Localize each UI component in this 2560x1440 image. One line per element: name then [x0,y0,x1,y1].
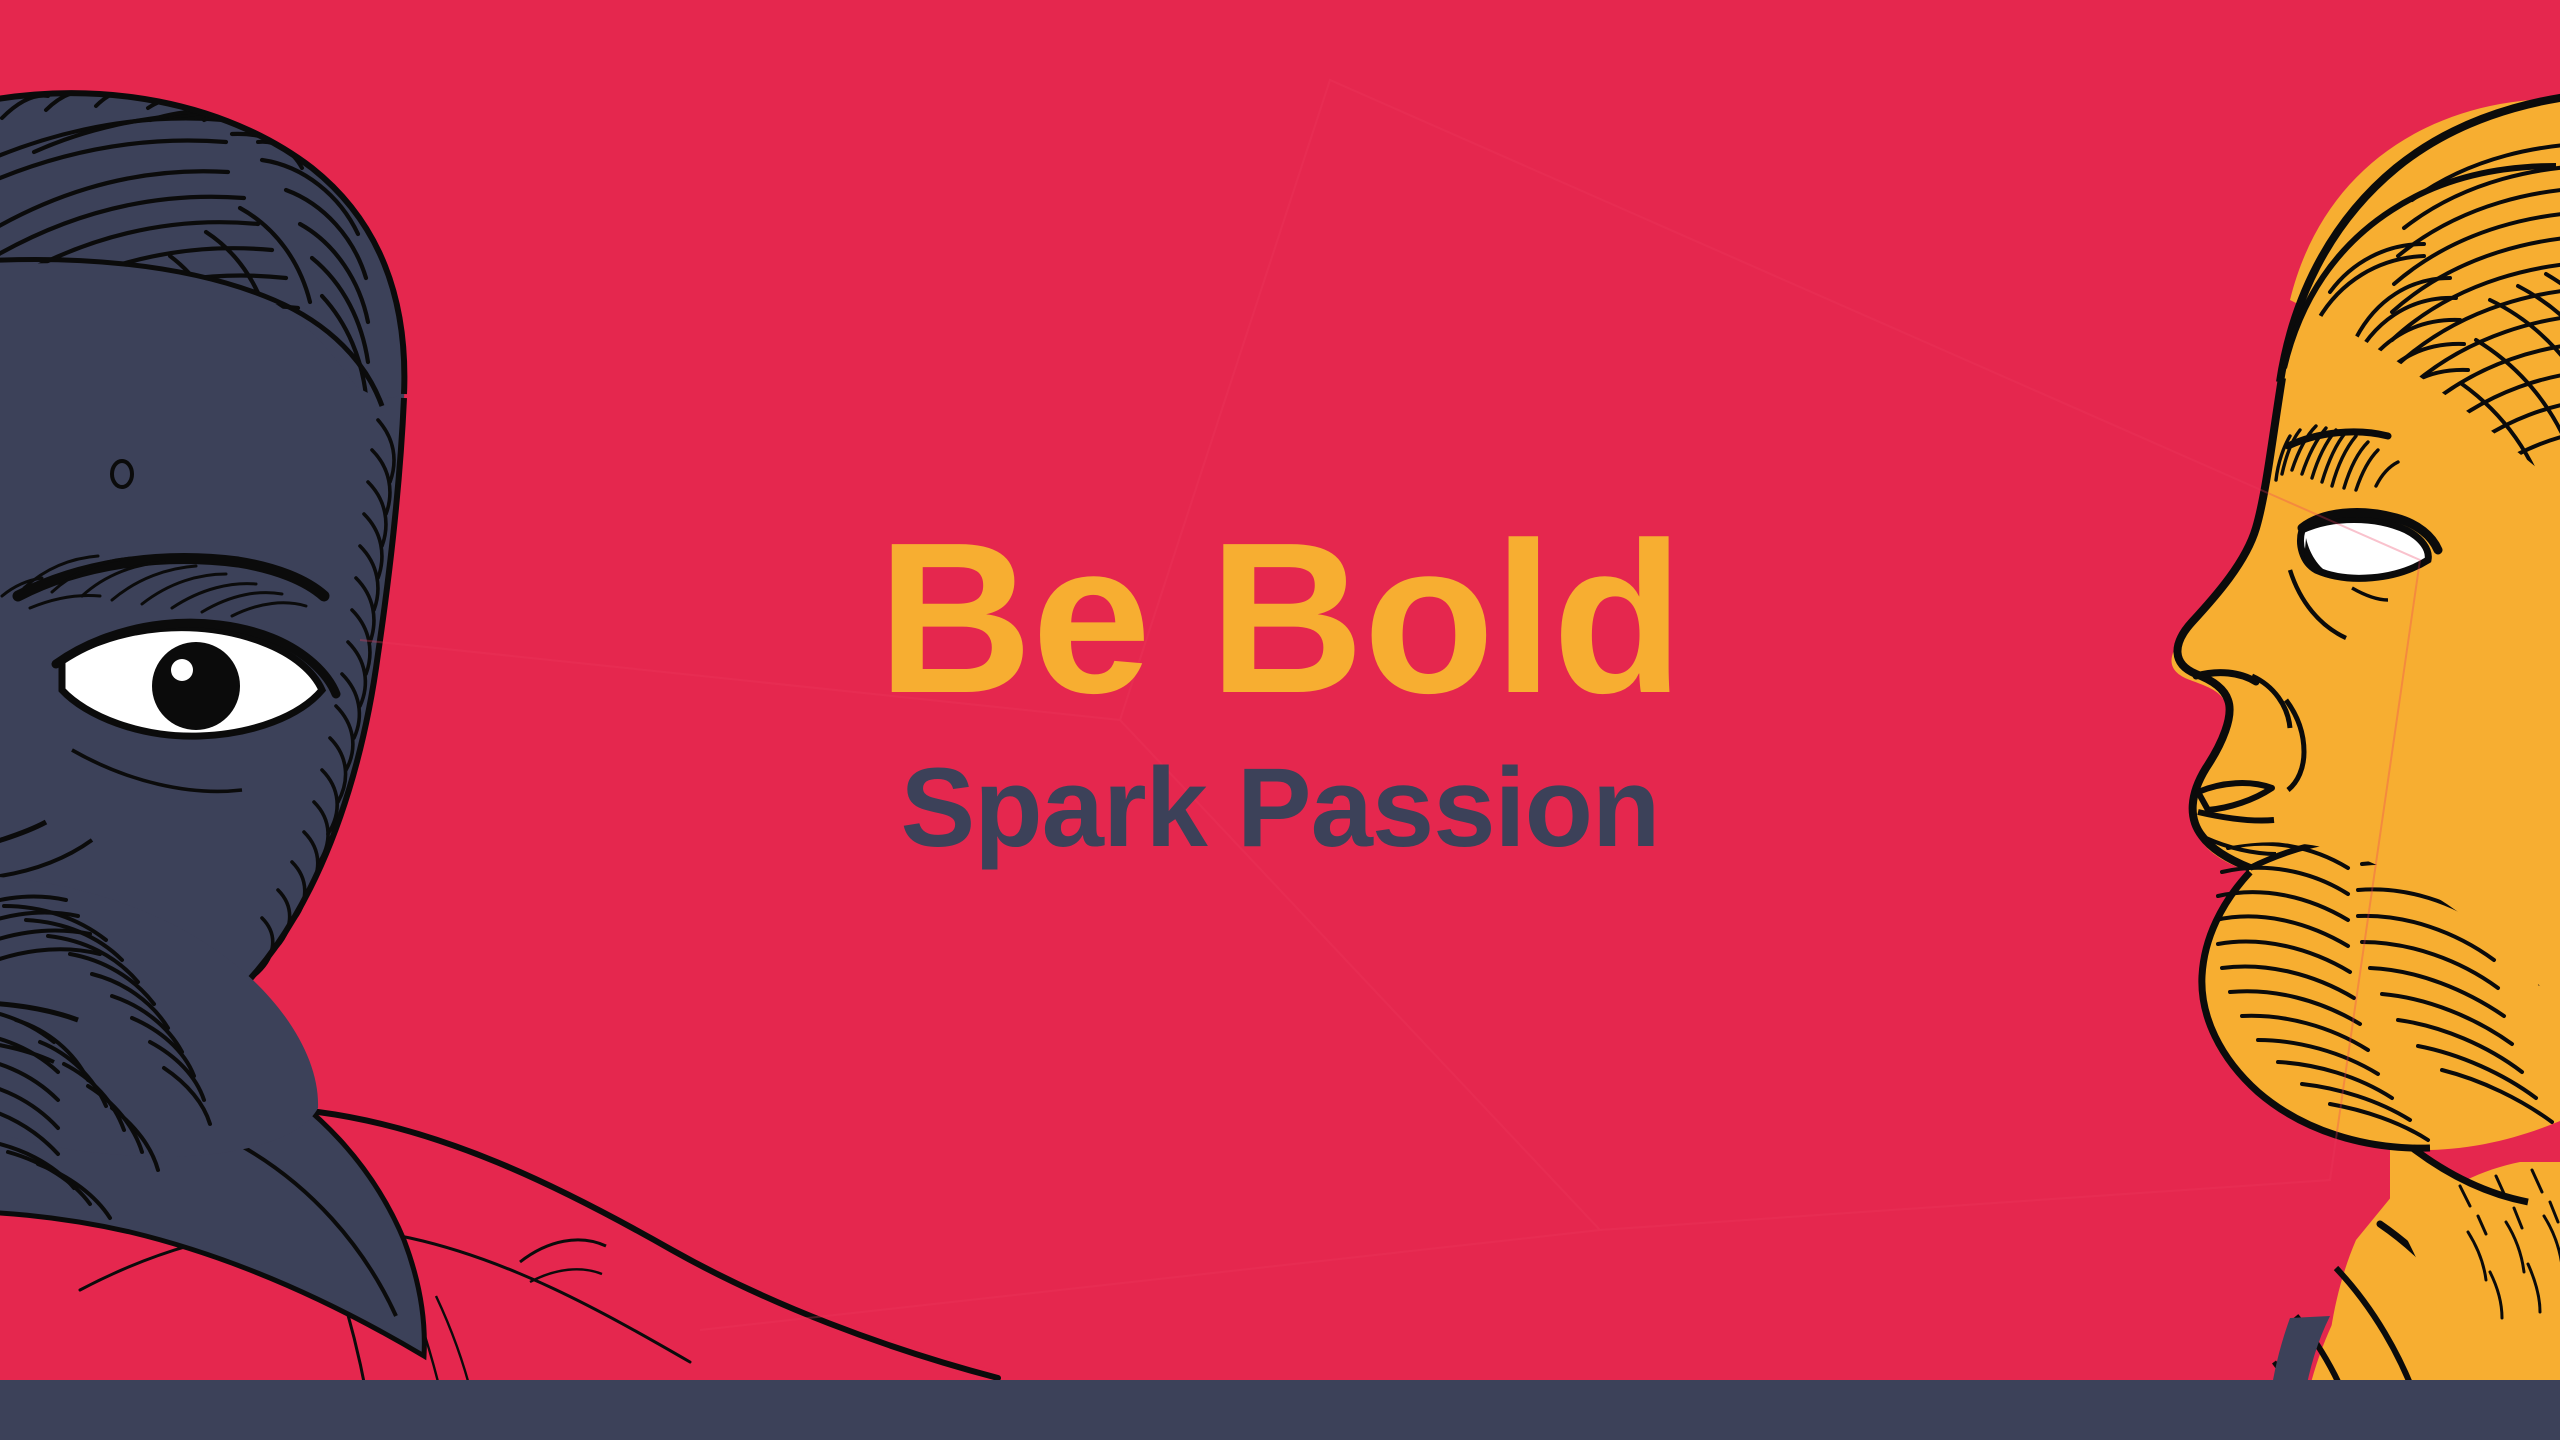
hero-banner: Be Bold Spark Passion [0,0,2560,1440]
bottom-bar [0,1380,2560,1440]
page-subtitle: Spark Passion [0,752,2560,864]
headline-block: Be Bold Spark Passion [0,516,2560,864]
page-title: Be Bold [0,516,2560,720]
